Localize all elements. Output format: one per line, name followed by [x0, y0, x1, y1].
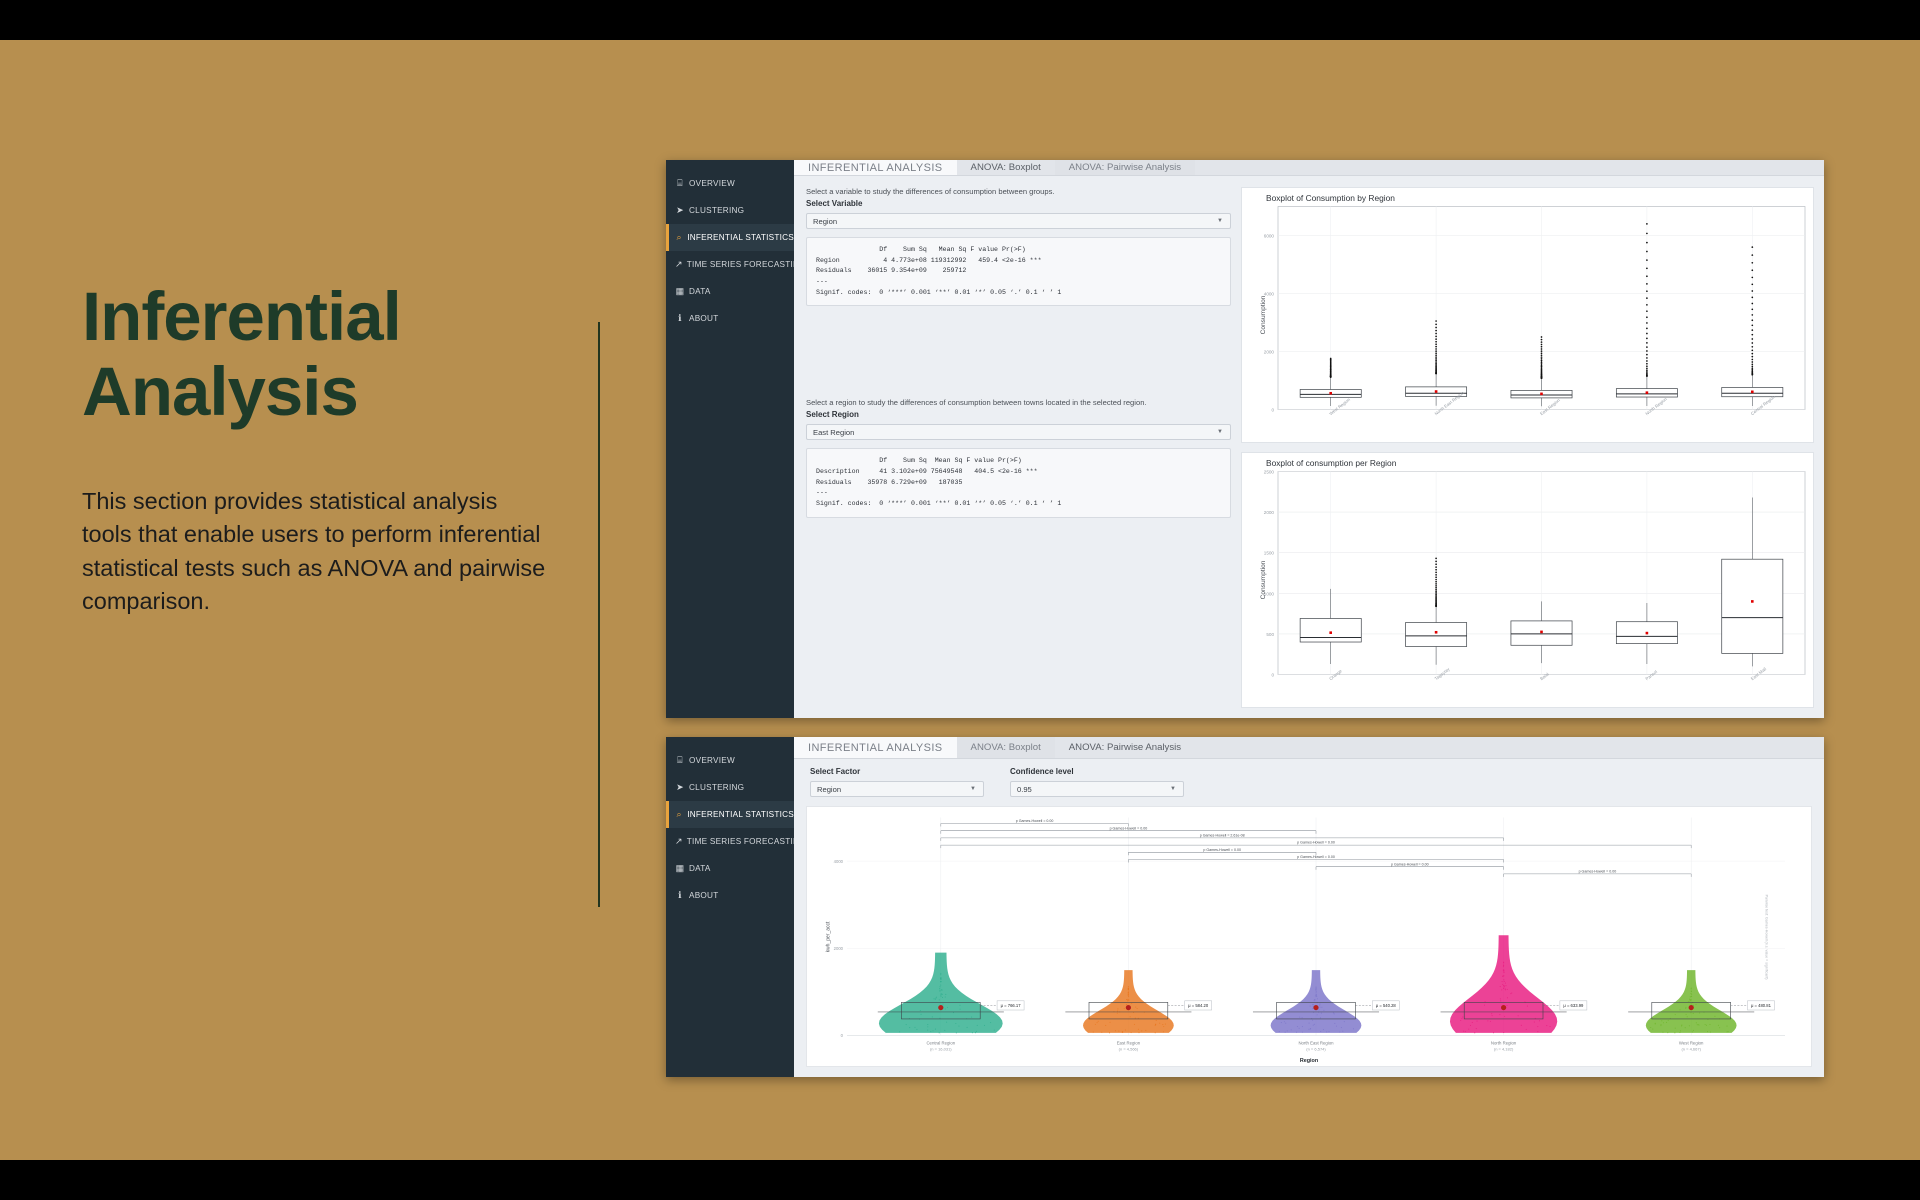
- panel-body-top: Select a variable to study the differenc…: [794, 176, 1824, 718]
- select-region-label: Select Region: [806, 410, 1231, 419]
- boxplot-consumption-per-region: Boxplot of consumption per Region Consum…: [1241, 452, 1814, 708]
- plot3-canvas: 020004000p Games-Howell = 0.00p Games-Ho…: [807, 807, 1811, 1066]
- page-description: This section provides statistical analys…: [82, 485, 552, 618]
- info-icon: ℹ: [675, 890, 685, 901]
- svg-text:(n = 4,566): (n = 4,566): [1119, 1047, 1139, 1052]
- panel-body-bottom: Select Factor Region ▼ Confidence level …: [794, 759, 1824, 1077]
- pairwise-controls: Select Factor Region ▼ Confidence level …: [794, 759, 1824, 806]
- table-icon: ▦: [675, 863, 685, 874]
- tab-inferential-analysis[interactable]: INFERENTIAL ANALYSIS: [794, 160, 957, 175]
- svg-text:p Games-Howell = 0.00: p Games-Howell = 0.00: [1579, 870, 1617, 874]
- controls-column: Select a variable to study the differenc…: [806, 187, 1231, 708]
- svg-text:p Games-Howell = 0.00: p Games-Howell = 0.00: [1297, 841, 1335, 845]
- svg-text:μ = 633.99: μ = 633.99: [1563, 1003, 1584, 1008]
- svg-text:0: 0: [1271, 408, 1274, 413]
- svg-text:6000: 6000: [1264, 234, 1275, 239]
- sidebar-item-inferential-statistics[interactable]: ⌕INFERENTIAL STATISTICS: [666, 224, 794, 251]
- screenshot-panel-pairwise: ⌸OVERVIEW➤CLUSTERING⌕INFERENTIAL STATIST…: [666, 737, 1824, 1077]
- svg-text:4000: 4000: [834, 859, 844, 864]
- sidebar-item-label: ABOUT: [689, 891, 718, 900]
- page-title: InferentialAnalysis: [82, 280, 602, 429]
- svg-text:North Region: North Region: [1491, 1041, 1517, 1046]
- tabbar-top: INFERENTIAL ANALYSISANOVA: BoxplotANOVA:…: [794, 160, 1824, 176]
- vertical-divider: [598, 322, 600, 907]
- info-icon: ℹ: [675, 313, 685, 324]
- plot1-title: Boxplot of Consumption by Region: [1266, 193, 1395, 203]
- tab-anova-boxplot[interactable]: ANOVA: Boxplot: [957, 160, 1055, 175]
- dashboard-icon: ⌸: [675, 178, 685, 189]
- select-factor-label: Select Factor: [810, 767, 984, 776]
- sidebar-item-time-series-forecasting[interactable]: ↗TIME SERIES FORECASTING: [666, 251, 794, 278]
- slide-canvas: InferentialAnalysis This section provide…: [0, 40, 1920, 1160]
- select-region-dropdown[interactable]: East Region ▼: [806, 424, 1231, 440]
- select-region-value: East Region: [813, 428, 854, 437]
- svg-text:(n = 16,031): (n = 16,031): [930, 1047, 952, 1052]
- sidebar-item-label: ABOUT: [689, 314, 718, 323]
- sidebar-item-time-series-forecasting[interactable]: ↗TIME SERIES FORECASTING: [666, 828, 794, 855]
- sidebar-item-label: OVERVIEW: [689, 756, 735, 765]
- plots-column: Boxplot of Consumption by Region Consump…: [1241, 187, 1814, 708]
- svg-text:p Games-Howell = 0.00: p Games-Howell = 0.00: [1297, 855, 1335, 859]
- tab-inferential-analysis[interactable]: INFERENTIAL ANALYSIS: [794, 737, 957, 758]
- svg-text:p Games-Howell = 0.00: p Games-Howell = 0.00: [1391, 862, 1429, 866]
- svg-text:2000: 2000: [834, 946, 844, 951]
- svg-text:(n = 6,574): (n = 6,574): [1306, 1047, 1326, 1052]
- sidebar-bottom: ⌸OVERVIEW➤CLUSTERING⌕INFERENTIAL STATIST…: [666, 737, 794, 1077]
- svg-text:μ = 766.17: μ = 766.17: [1001, 1003, 1022, 1008]
- anova-region-output: Df Sum Sq Mean Sq F value Pr(>F) Descrip…: [806, 448, 1231, 517]
- sidebar-item-label: INFERENTIAL STATISTICS: [687, 810, 794, 819]
- select-factor-dropdown[interactable]: Region ▼: [810, 781, 984, 797]
- sidebar-item-label: TIME SERIES FORECASTING: [687, 260, 806, 269]
- svg-text:μ = 584.20: μ = 584.20: [1188, 1003, 1209, 1008]
- tabbar-bottom: INFERENTIAL ANALYSISANOVA: BoxplotANOVA:…: [794, 737, 1824, 759]
- table-icon: ▦: [675, 286, 685, 297]
- svg-text:2000: 2000: [1264, 350, 1275, 355]
- svg-text:North East Region: North East Region: [1298, 1041, 1334, 1046]
- chevron-down-icon: ▼: [1217, 218, 1223, 224]
- sidebar-item-about[interactable]: ℹABOUT: [666, 305, 794, 332]
- chevron-down-icon: ▼: [970, 786, 976, 792]
- svg-text:West Region: West Region: [1679, 1041, 1704, 1046]
- sidebar-item-label: CLUSTERING: [689, 783, 744, 792]
- sidebar-item-data[interactable]: ▦DATA: [666, 855, 794, 882]
- svg-text:East Region: East Region: [1117, 1041, 1141, 1046]
- sidebar-item-clustering[interactable]: ➤CLUSTERING: [666, 197, 794, 224]
- plot1-ylabel: Consumption: [1260, 296, 1267, 335]
- pairwise-comparison-plot: kwh_per_acct Region Pairwise test: Games…: [806, 806, 1812, 1067]
- anova-variable-output: Df Sum Sq Mean Sq F value Pr(>F) Region …: [806, 237, 1231, 306]
- sidebar-item-label: TIME SERIES FORECASTING: [687, 837, 806, 846]
- svg-text:p Games-Howell = 0.00: p Games-Howell = 0.00: [1016, 819, 1054, 823]
- sidebar-item-label: CLUSTERING: [689, 206, 744, 215]
- plot3-ylabel: kwh_per_acct: [825, 921, 831, 952]
- svg-text:p Games-Howell = 0.00: p Games-Howell = 0.00: [1203, 848, 1241, 852]
- sidebar-item-label: DATA: [689, 864, 711, 873]
- plot2-canvas: 05001000150020002500OrangeTagaytayBalaiP…: [1242, 453, 1813, 707]
- chevron-down-icon: ▼: [1170, 786, 1176, 792]
- dashboard-icon: ⌸: [675, 755, 685, 766]
- screenshot-panel-boxplot: ⌸OVERVIEW➤CLUSTERING⌕INFERENTIAL STATIST…: [666, 160, 1824, 718]
- variable-hint: Select a variable to study the differenc…: [806, 187, 1231, 196]
- svg-text:(n = 4,667): (n = 4,667): [1681, 1047, 1701, 1052]
- plot1-canvas: 0200040006000West RegionNorth East Regio…: [1242, 188, 1813, 442]
- plot2-ylabel: Consumption: [1260, 561, 1267, 600]
- tab-anova-boxplot[interactable]: ANOVA: Boxplot: [957, 737, 1055, 758]
- svg-text:0: 0: [1271, 673, 1274, 678]
- svg-text:1500: 1500: [1264, 551, 1275, 556]
- sidebar-item-label: INFERENTIAL STATISTICS: [687, 233, 794, 242]
- plot2-title: Boxplot of consumption per Region: [1266, 458, 1396, 468]
- confidence-level-dropdown[interactable]: 0.95 ▼: [1010, 781, 1184, 797]
- plot3-xlabel: Region: [1300, 1058, 1318, 1064]
- svg-text:0: 0: [841, 1033, 844, 1038]
- panel-content-bottom: INFERENTIAL ANALYSISANOVA: BoxplotANOVA:…: [794, 737, 1824, 1077]
- sidebar-item-data[interactable]: ▦DATA: [666, 278, 794, 305]
- svg-text:p Games-Howell = 2.61e-08: p Games-Howell = 2.61e-08: [1200, 834, 1245, 838]
- sidebar-top: ⌸OVERVIEW➤CLUSTERING⌕INFERENTIAL STATIST…: [666, 160, 794, 718]
- magnifier-icon: ⌕: [675, 809, 683, 820]
- svg-text:μ = 480.81: μ = 480.81: [1751, 1003, 1772, 1008]
- svg-text:p Games-Howell = 0.00: p Games-Howell = 0.00: [1110, 826, 1148, 830]
- svg-text:2500: 2500: [1264, 470, 1275, 475]
- select-variable-value: Region: [813, 217, 837, 226]
- line-chart-icon: ↗: [675, 259, 683, 270]
- cluster-icon: ➤: [675, 782, 685, 793]
- select-variable-dropdown[interactable]: Region ▼: [806, 213, 1231, 229]
- tab-anova-pairwise-analysis[interactable]: ANOVA: Pairwise Analysis: [1055, 160, 1195, 175]
- tab-anova-pairwise-analysis[interactable]: ANOVA: Pairwise Analysis: [1055, 737, 1195, 758]
- spacer: [806, 306, 1231, 398]
- sidebar-item-overview[interactable]: ⌸OVERVIEW: [666, 170, 794, 197]
- plot3-credit: Pairwise test: Games-Howell (n.s. value …: [1765, 894, 1769, 979]
- magnifier-icon: ⌕: [675, 232, 683, 243]
- sidebar-item-overview[interactable]: ⌸OVERVIEW: [666, 747, 794, 774]
- region-hint: Select a region to study the differences…: [806, 398, 1231, 407]
- sidebar-item-label: DATA: [689, 287, 711, 296]
- boxplot-consumption-by-region: Boxplot of Consumption by Region Consump…: [1241, 187, 1814, 443]
- confidence-level-label: Confidence level: [1010, 767, 1184, 776]
- svg-text:μ = 540.28: μ = 540.28: [1376, 1003, 1397, 1008]
- cluster-icon: ➤: [675, 205, 685, 216]
- confidence-level-group: Confidence level 0.95 ▼: [1010, 767, 1184, 797]
- panel-content-top: INFERENTIAL ANALYSISANOVA: BoxplotANOVA:…: [794, 160, 1824, 718]
- select-factor-value: Region: [817, 785, 841, 794]
- svg-text:(n = 4,182): (n = 4,182): [1494, 1047, 1514, 1052]
- svg-text:Central Region: Central Region: [926, 1041, 955, 1046]
- sidebar-item-label: OVERVIEW: [689, 179, 735, 188]
- confidence-level-value: 0.95: [1017, 785, 1032, 794]
- sidebar-item-about[interactable]: ℹABOUT: [666, 882, 794, 909]
- sidebar-item-inferential-statistics[interactable]: ⌕INFERENTIAL STATISTICS: [666, 801, 794, 828]
- left-text-column: InferentialAnalysis This section provide…: [82, 280, 602, 618]
- select-variable-label: Select Variable: [806, 199, 1231, 208]
- chevron-down-icon: ▼: [1217, 429, 1223, 435]
- select-factor-group: Select Factor Region ▼: [810, 767, 984, 797]
- svg-text:2000: 2000: [1264, 510, 1275, 515]
- svg-text:500: 500: [1266, 632, 1274, 637]
- sidebar-item-clustering[interactable]: ➤CLUSTERING: [666, 774, 794, 801]
- line-chart-icon: ↗: [675, 836, 683, 847]
